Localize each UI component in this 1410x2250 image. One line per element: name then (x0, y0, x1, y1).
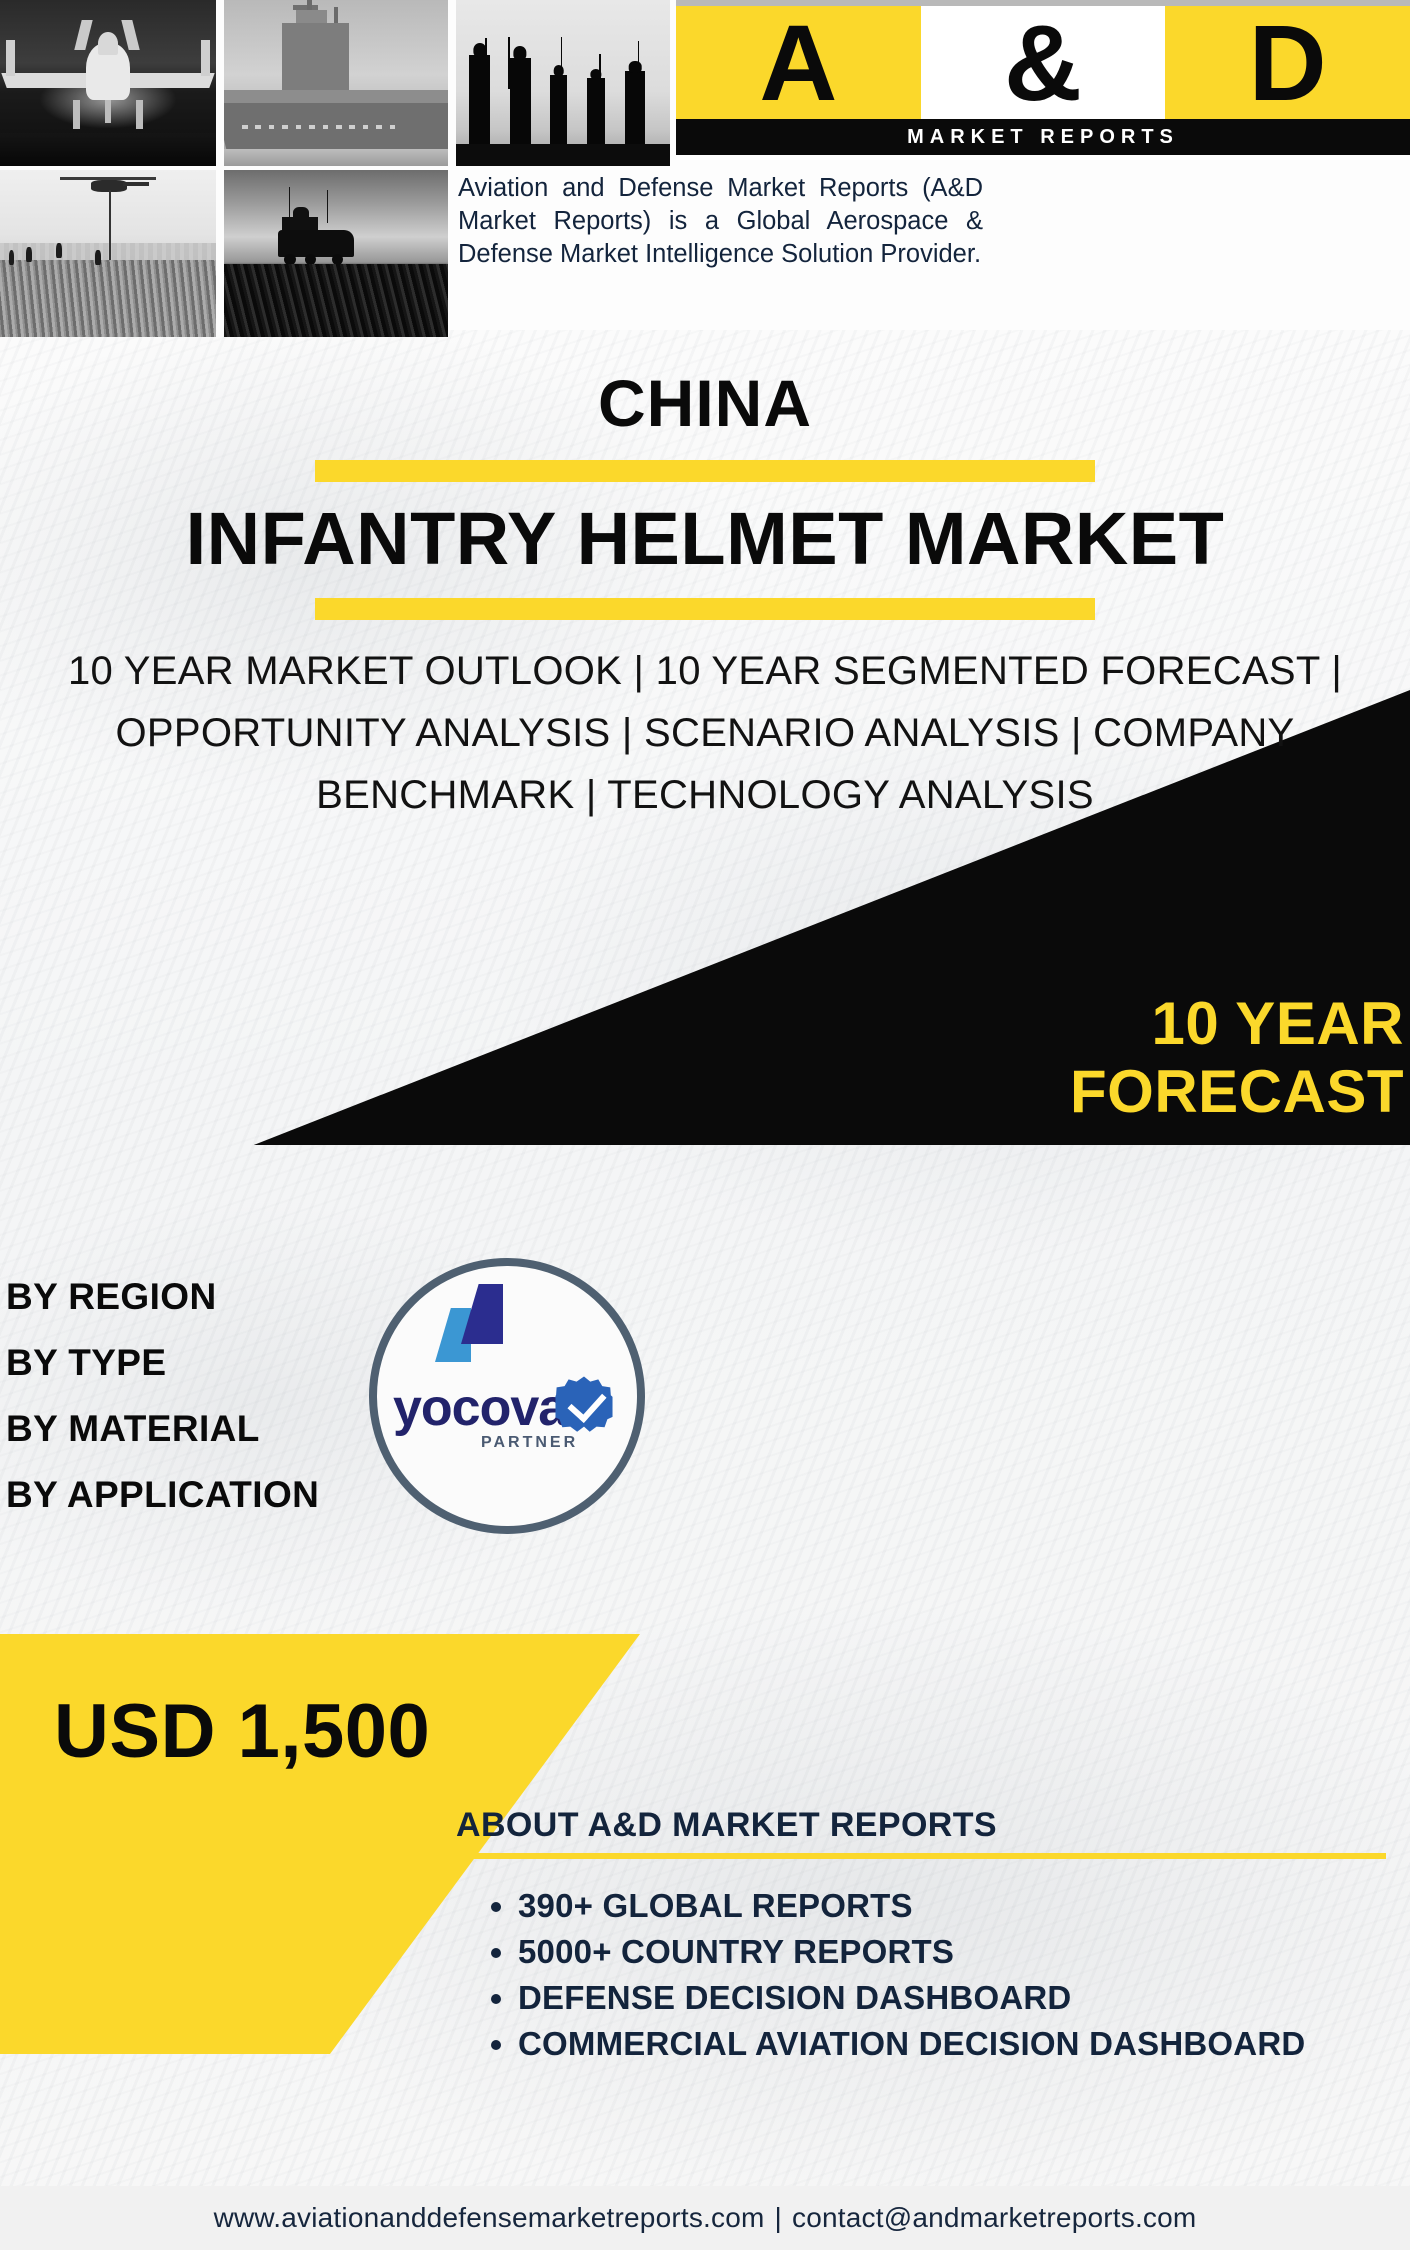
price-label: USD 1,500 (54, 1688, 430, 1775)
report-title-block: CHINA INFANTRY HELMET MARKET (0, 360, 1410, 620)
report-scope-subtitle: 10 YEAR MARKET OUTLOOK | 10 YEAR SEGMENT… (35, 640, 1375, 826)
company-intro-paragraph: Aviation and Defense Market Reports (A&D… (458, 172, 983, 271)
about-section: ABOUT A&D MARKET REPORTS 390+ GLOBAL REP… (456, 1806, 1386, 2069)
aircraft-carrier-photo (224, 0, 448, 166)
logo-ampersand: & (1004, 9, 1082, 117)
soldiers-silhouette-photo (456, 0, 670, 166)
fighter-jet-photo (0, 0, 216, 166)
logo-letter-d: D (1249, 9, 1327, 117)
logo-block-d: D (1165, 6, 1410, 119)
footer-separator: | (775, 2202, 782, 2234)
about-bullet-list: 390+ GLOBAL REPORTS 5000+ COUNTRY REPORT… (456, 1885, 1386, 2065)
logo-tagline-band: MARKET REPORTS (676, 119, 1410, 155)
segment-item-material: BY MATERIAL (6, 1410, 319, 1447)
yocova-wordmark: yocova (393, 1382, 573, 1434)
yocova-partner-label: PARTNER (481, 1434, 578, 1452)
yocova-chevron-icon (429, 1284, 519, 1362)
segment-item-application: BY APPLICATION (6, 1476, 319, 1513)
list-item: DEFENSE DECISION DASHBOARD (518, 1977, 1386, 2019)
forecast-line-1: 10 YEAR (784, 990, 1404, 1058)
footer-email[interactable]: contact@andmarketreports.com (792, 2202, 1196, 2234)
helicopter-fast-rope-photo (0, 170, 216, 337)
segment-item-region: BY REGION (6, 1278, 319, 1315)
page-title-main: INFANTRY HELMET MARKET (0, 502, 1410, 576)
logo-tagline: MARKET REPORTS (907, 126, 1179, 149)
title-rule-top (315, 460, 1095, 482)
logo-block-a: A (676, 6, 921, 119)
page-title-country: CHINA (0, 360, 1410, 436)
ad-market-reports-logo: A & D MARKET REPORTS (676, 0, 1410, 160)
title-rule-bottom (315, 598, 1095, 620)
footer-contact-bar: www.aviationanddefensemarketreports.com … (0, 2186, 1410, 2250)
verified-check-icon (553, 1374, 615, 1436)
list-item: 390+ GLOBAL REPORTS (518, 1885, 1386, 1927)
list-item: 5000+ COUNTRY REPORTS (518, 1931, 1386, 1973)
logo-letter-a: A (759, 9, 837, 117)
logo-block-ampersand: & (921, 6, 1166, 119)
forecast-line-2: FORECAST (784, 1058, 1404, 1126)
report-cover-page: A & D MARKET REPORTS Aviation and Defens… (0, 0, 1410, 2250)
armored-vehicle-photo (224, 170, 448, 337)
footer-website[interactable]: www.aviationanddefensemarketreports.com (214, 2202, 765, 2234)
about-heading-rule (456, 1853, 1386, 1859)
segment-item-type: BY TYPE (6, 1344, 319, 1381)
forecast-badge: 10 YEAR FORECAST (784, 990, 1410, 1126)
yocova-partner-badge: yocova PARTNER (369, 1258, 645, 1534)
segmentation-list: BY REGION BY TYPE BY MATERIAL BY APPLICA… (6, 1278, 319, 1542)
about-heading: ABOUT A&D MARKET REPORTS (456, 1806, 1386, 1845)
list-item: COMMERCIAL AVIATION DECISION DASHBOARD (518, 2023, 1386, 2065)
